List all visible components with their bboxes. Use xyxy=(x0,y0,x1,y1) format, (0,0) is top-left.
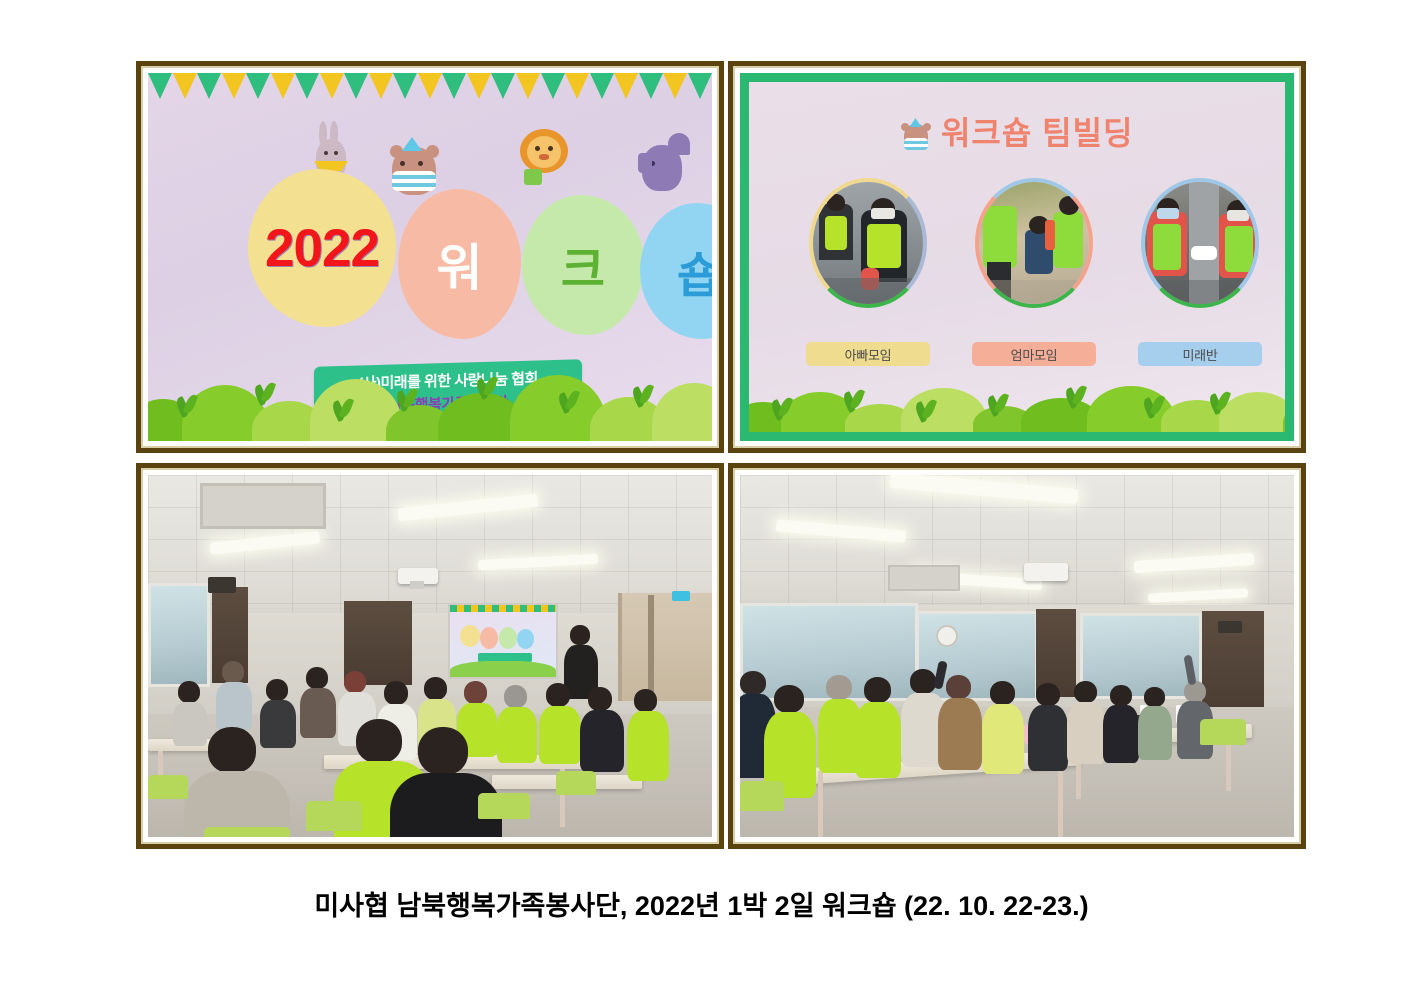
photo-top-right: 워크숍 팀빌딩 xyxy=(728,61,1306,453)
bunting-flag-icon xyxy=(369,73,393,99)
bunting-flag-icon xyxy=(688,73,712,99)
bunting-flag-icon xyxy=(320,73,344,99)
photo-top-left: 2022 워 크 숍 (사)미래를 위한 사랑나눔 협회 남북행복가족봉사단 xyxy=(136,61,724,453)
photo-bottom-right xyxy=(728,463,1306,849)
bunting-flag-icon xyxy=(418,73,442,99)
title-circles: 2022 워 크 숍 xyxy=(148,161,712,336)
bunting-flag-icon xyxy=(295,73,319,99)
bunting-flag-icon xyxy=(614,73,638,99)
group-label-row: 아빠모임 엄마모임 미래반 xyxy=(749,342,1285,368)
syllable-2-text: 크 xyxy=(561,230,605,300)
bunting-flag-icon xyxy=(271,73,295,99)
bunting-flag-icon xyxy=(393,73,417,99)
syllable-1-text: 워 xyxy=(437,228,483,300)
title-slide: 2022 워 크 숍 (사)미래를 위한 사랑나눔 협회 남북행복가족봉사단 xyxy=(148,73,712,441)
bunting-flag-icon xyxy=(639,73,663,99)
teambuilding-title: 워크숍 팀빌딩 xyxy=(941,115,1134,151)
group-label-3: 미래반 xyxy=(1138,342,1262,366)
projection-screen xyxy=(448,603,558,679)
group-photo-row xyxy=(749,178,1285,310)
bunting-flag-icon xyxy=(148,73,172,99)
year-text: 2022 xyxy=(265,218,379,279)
group-photo-1 xyxy=(809,178,927,308)
bunting-flag-icon xyxy=(467,73,491,99)
teambuilding-title-row: 워크숍 팀빌딩 xyxy=(749,108,1285,154)
bunting-flag-icon xyxy=(663,73,687,99)
syllable-3-text: 숍 xyxy=(677,236,712,306)
bunting-flag-icon xyxy=(565,73,589,99)
circle-syllable-1: 워 xyxy=(398,189,521,339)
bunting-flag-icon xyxy=(541,73,565,99)
circle-syllable-2: 크 xyxy=(522,195,644,335)
group-photo-3 xyxy=(1141,178,1259,308)
photo-caption: 미사협 남북행복가족봉사단, 2022년 1박 2일 워크숍 (22. 10. … xyxy=(0,884,1403,923)
bunting-flag-icon xyxy=(222,73,246,99)
bunting-flag-icon xyxy=(173,73,197,99)
circle-syllable-3: 숍 xyxy=(640,203,712,339)
group-photo-2 xyxy=(975,178,1093,308)
bunting-flag-icon xyxy=(246,73,270,99)
classroom-scene xyxy=(148,475,712,837)
bunting-flag-icon xyxy=(197,73,221,99)
group-label-2: 엄마모임 xyxy=(972,342,1096,366)
bunting-flag-icon xyxy=(442,73,466,99)
bush-decoration xyxy=(148,359,712,441)
circle-year: 2022 xyxy=(248,169,396,327)
bear-mascot-icon xyxy=(901,118,931,152)
meetingroom-scene xyxy=(740,475,1294,837)
bunting-flag-icon xyxy=(590,73,614,99)
bush-shape xyxy=(652,383,712,441)
bush-decoration xyxy=(749,374,1285,432)
bunting-flag-icon xyxy=(344,73,368,99)
bunting-flag-icon xyxy=(516,73,540,99)
photo-collage-page: 2022 워 크 숍 (사)미래를 위한 사랑나눔 협회 남북행복가족봉사단 xyxy=(0,0,1403,992)
bunting-flag-icon xyxy=(491,73,515,99)
photo-bottom-left xyxy=(136,463,724,849)
teambuilding-slide: 워크숍 팀빌딩 xyxy=(740,73,1294,441)
group-label-1: 아빠모임 xyxy=(806,342,930,366)
bunting-decoration xyxy=(148,73,712,99)
